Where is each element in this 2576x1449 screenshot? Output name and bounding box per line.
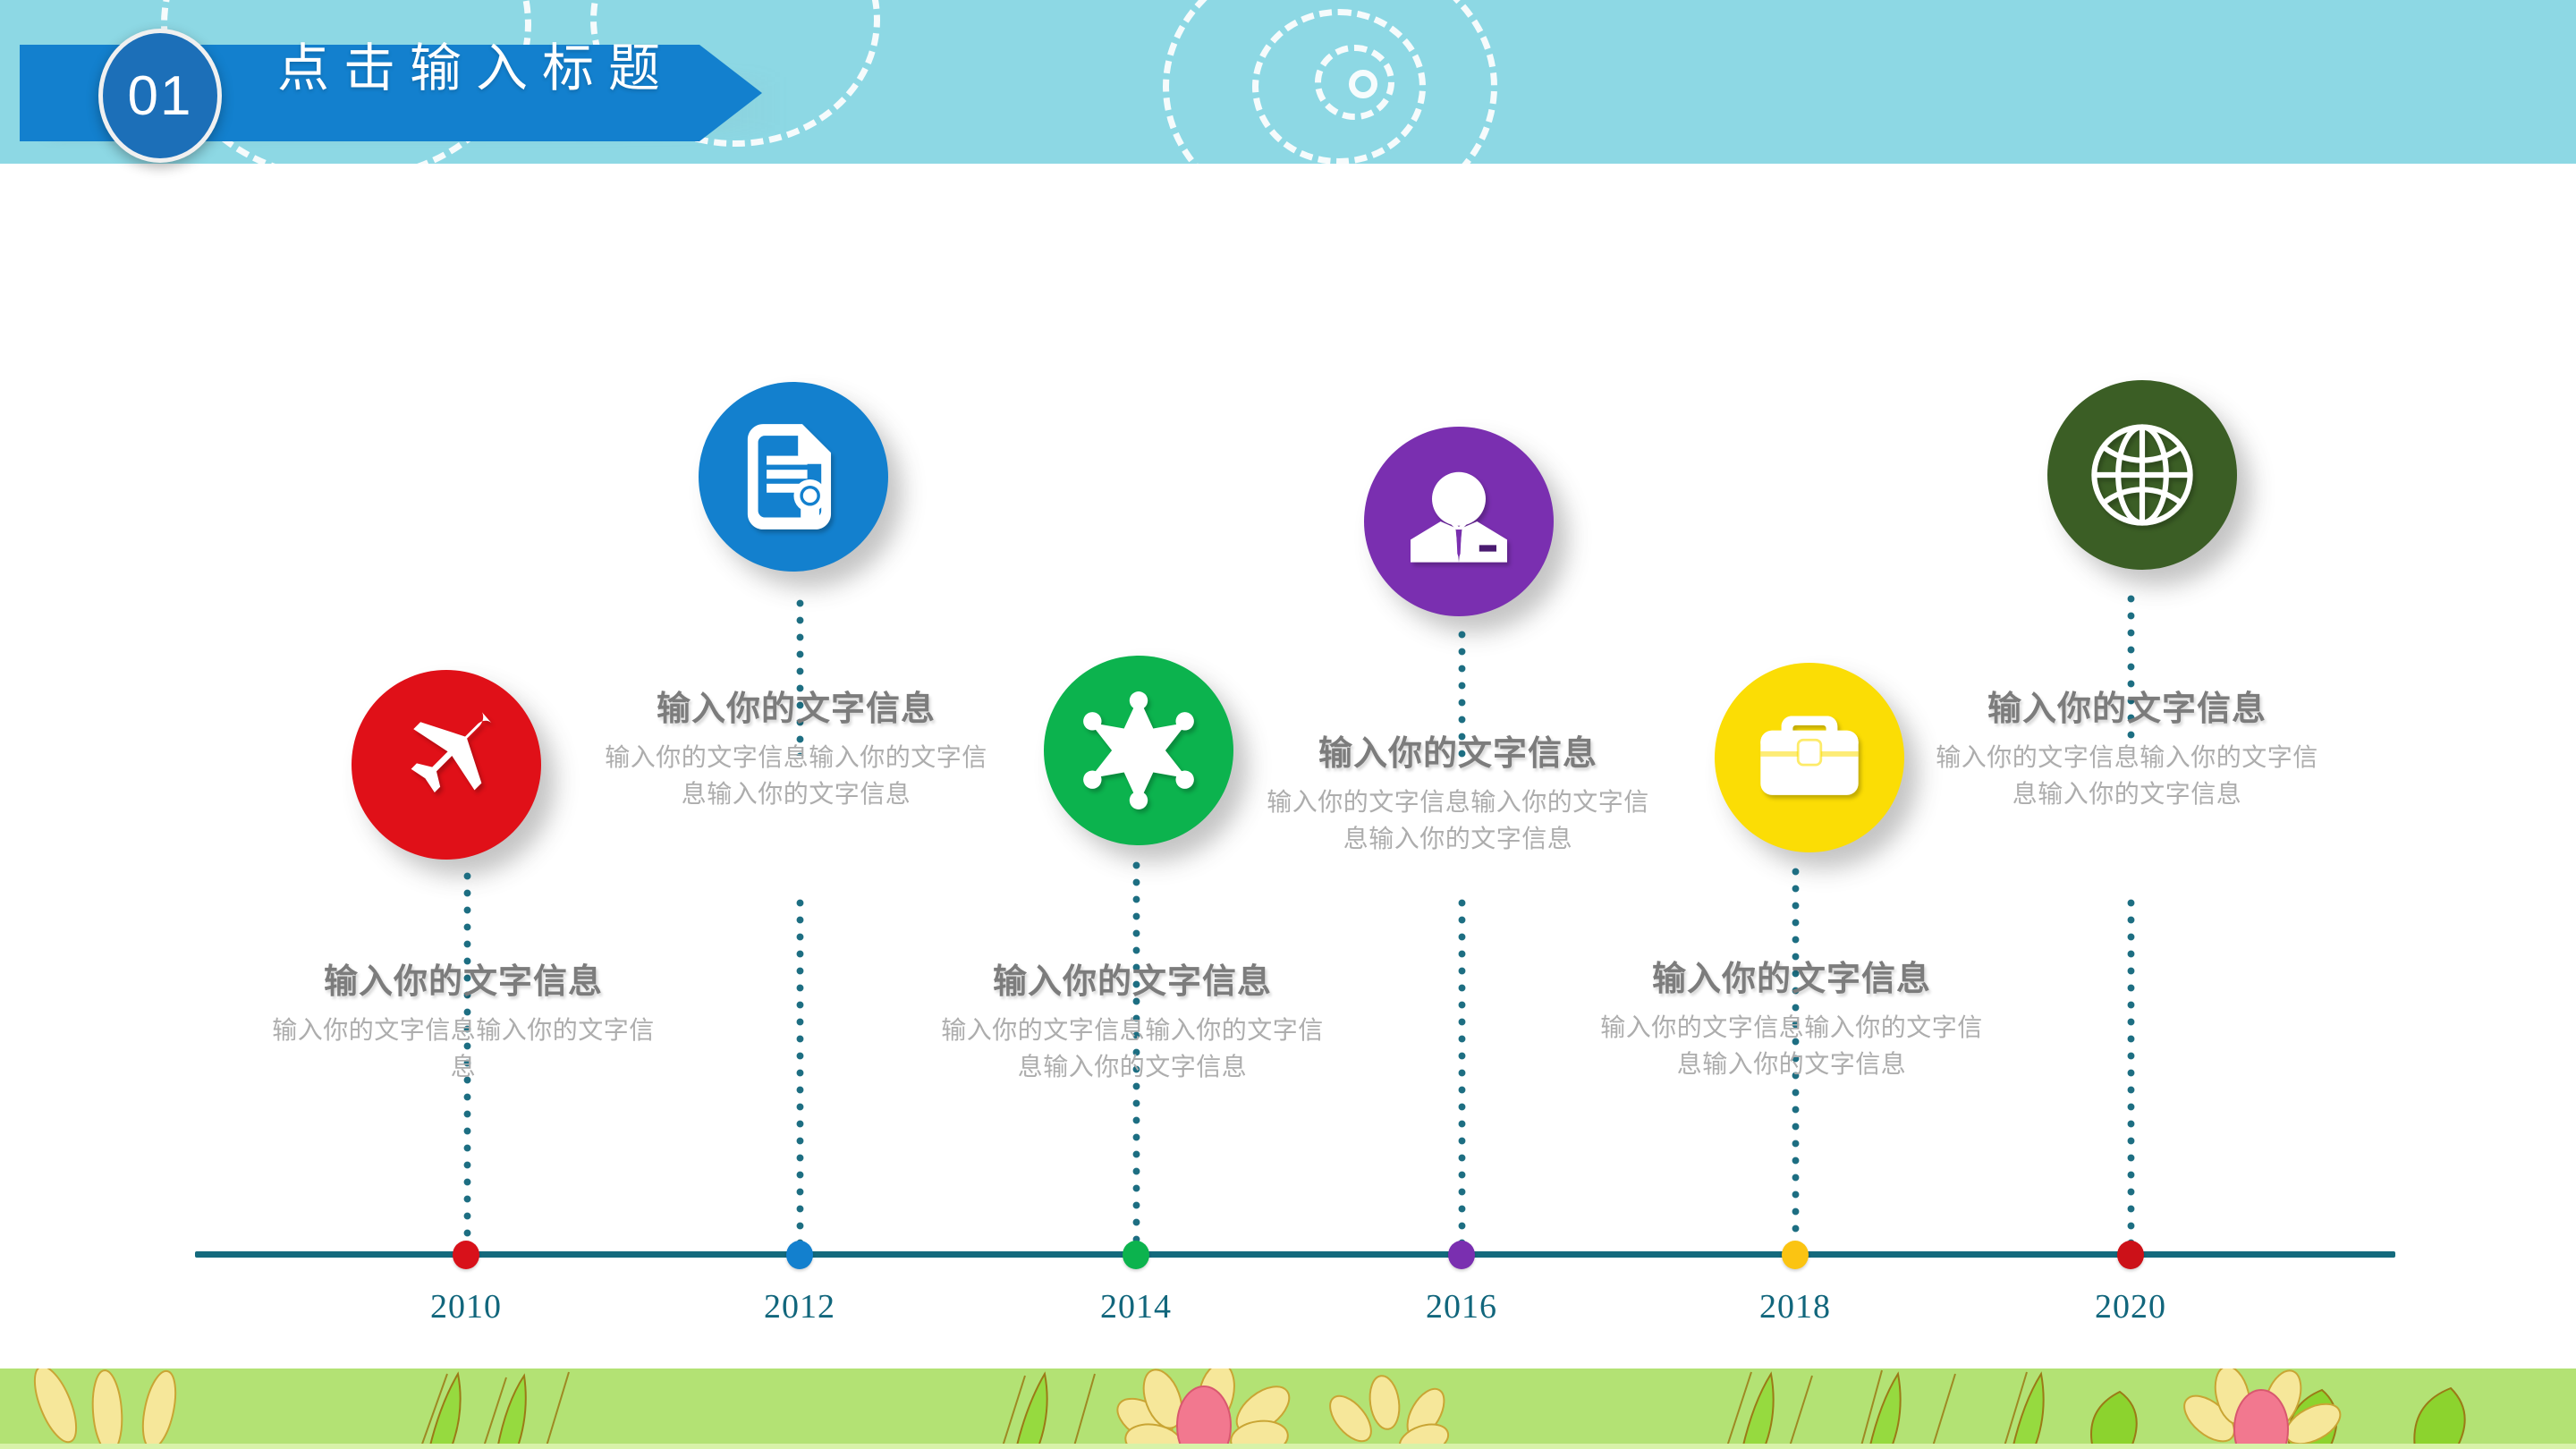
timeline-text-2020: 输入你的文字信息 输入你的文字信息输入你的文字信息输入你的文字信息 — [1930, 689, 2324, 812]
item-title: 输入你的文字信息 — [267, 962, 660, 1004]
grass-flowers-illustration — [0, 1368, 2576, 1449]
timeline-text-2012: 输入你的文字信息 输入你的文字信息输入你的文字信息输入你的文字信息 — [599, 689, 993, 812]
timeline-year-label: 2010 — [386, 1287, 547, 1326]
item-title: 输入你的文字信息 — [1261, 733, 1655, 776]
section-number-badge: 01 — [98, 29, 222, 163]
item-body: 输入你的文字信息输入你的文字信息 — [267, 1012, 660, 1086]
timeline-text-2014: 输入你的文字信息 输入你的文字信息输入你的文字信息输入你的文字信息 — [936, 962, 1329, 1085]
timeline-dot — [1448, 1241, 1475, 1269]
connector-line-2020-lower — [2127, 894, 2135, 1243]
section-number-label: 01 — [103, 33, 217, 158]
connector-line-2012-lower — [796, 894, 804, 1243]
timeline-text-2016: 输入你的文字信息 输入你的文字信息输入你的文字信息输入你的文字信息 — [1261, 733, 1655, 857]
timeline-year-label: 2014 — [1055, 1287, 1216, 1326]
flower-grass-border — [0, 1368, 2576, 1449]
sheriff-star-badge-icon — [1078, 690, 1199, 811]
item-title: 输入你的文字信息 — [599, 689, 993, 732]
item-title: 输入你的文字信息 — [1595, 959, 1988, 1002]
item-body: 输入你的文字信息输入你的文字信息输入你的文字信息 — [1261, 784, 1655, 858]
businessman-icon — [1400, 467, 1518, 576]
timeline-axis: 2010 2012 2014 2016 2018 2020 — [195, 1251, 2395, 1258]
timeline-dot — [453, 1241, 479, 1269]
globe-icon — [2082, 415, 2202, 535]
item-title: 输入你的文字信息 — [936, 962, 1329, 1004]
timeline-dot — [1782, 1241, 1809, 1269]
item-title: 输入你的文字信息 — [1930, 689, 2324, 732]
timeline-dot — [786, 1241, 813, 1269]
item-body: 输入你的文字信息输入你的文字信息输入你的文字信息 — [936, 1012, 1329, 1086]
certificate-document-icon — [739, 419, 848, 535]
timeline-dot — [2117, 1241, 2144, 1269]
page-title: 点击输入标题 — [277, 43, 674, 95]
item-body: 输入你的文字信息输入你的文字信息输入你的文字信息 — [1595, 1009, 1988, 1083]
timeline-year-label: 2016 — [1381, 1287, 1542, 1326]
timeline-year-label: 2020 — [2050, 1287, 2211, 1326]
timeline-year-label: 2018 — [1715, 1287, 1876, 1326]
item-body: 输入你的文字信息输入你的文字信息输入你的文字信息 — [599, 739, 993, 813]
airplane-icon — [390, 708, 503, 821]
timeline-text-2010: 输入你的文字信息 输入你的文字信息输入你的文字信息 — [267, 962, 660, 1085]
briefcase-icon — [1752, 705, 1867, 810]
connector-line-2016-lower — [1458, 894, 1466, 1243]
timeline-year-label: 2012 — [719, 1287, 880, 1326]
slide-canvas: 点击输入标题 01 — [0, 0, 2576, 1449]
timeline-dot — [1123, 1241, 1149, 1269]
item-body: 输入你的文字信息输入你的文字信息输入你的文字信息 — [1930, 739, 2324, 813]
timeline-text-2018: 输入你的文字信息 输入你的文字信息输入你的文字信息输入你的文字信息 — [1595, 959, 1988, 1082]
